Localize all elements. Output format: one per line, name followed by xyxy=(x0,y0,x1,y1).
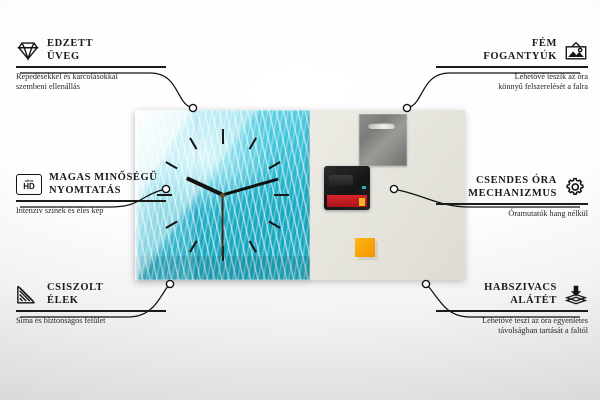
feature-title: CSISZOLT ÉLEK xyxy=(47,282,103,307)
feature-title: CSENDES ÓRA MECHANIZMUS xyxy=(468,175,557,200)
mechanism-marker xyxy=(362,186,366,189)
mechanism-housing xyxy=(329,175,353,186)
feature-sanded-edges: CSISZOLT ÉLEK Sima és biztonságos felüle… xyxy=(16,282,166,326)
infographic-canvas: EDZETT ÜVEG Repedésekkel és karcolásokka… xyxy=(0,0,600,400)
feature-foam-underlay: HABSZIVACS ALÁTÉT Lehetővé teszi az óra … xyxy=(436,282,588,336)
clock-tick xyxy=(223,194,289,196)
feature-metal-handles: FÉM FOGANTYÚK Lehetővé teszik az óra kön… xyxy=(436,38,588,92)
hanger-slot xyxy=(368,123,395,129)
feature-header: CSISZOLT ÉLEK xyxy=(16,282,166,307)
gear-icon xyxy=(564,177,588,198)
feature-description: Lehetővé teszik az óra könnyű felszerelé… xyxy=(436,72,588,92)
feature-header: EDZETT ÜVEG xyxy=(16,38,166,63)
feature-title: FÉM FOGANTYÚK xyxy=(483,38,557,63)
mechanism-label xyxy=(327,195,367,207)
foam-pad xyxy=(355,238,375,257)
feature-divider xyxy=(16,310,166,312)
sanded-edge-icon xyxy=(16,284,40,305)
diamond-icon xyxy=(16,40,40,61)
press-pad-icon xyxy=(564,284,588,305)
feature-divider xyxy=(436,310,588,312)
clock-tick xyxy=(222,129,224,195)
feature-silent-mechanism: CSENDES ÓRA MECHANIZMUS Óramutatók hang … xyxy=(436,175,588,219)
feature-header: HABSZIVACS ALÁTÉT xyxy=(436,282,588,307)
clock-tick xyxy=(157,194,223,196)
feature-title: HABSZIVACS ALÁTÉT xyxy=(484,282,557,307)
feature-header: ultraHD MAGAS MINŐSÉGŰ NYOMTATÁS xyxy=(16,172,166,197)
clock-mechanism xyxy=(324,166,370,210)
feature-description: Repedésekkel és karcolásokkal szembeni e… xyxy=(16,72,166,92)
feature-divider xyxy=(436,66,588,68)
feature-header: FÉM FOGANTYÚK xyxy=(436,38,588,63)
product-photo xyxy=(135,110,465,285)
feature-divider xyxy=(16,200,166,202)
feature-title: EDZETT ÜVEG xyxy=(47,38,93,63)
metal-hanger-plate xyxy=(359,114,407,166)
feature-divider xyxy=(436,203,588,205)
mechanism-hanging-loop xyxy=(337,166,360,173)
feature-description: Óramutatók hang nélkül xyxy=(436,209,588,219)
feature-divider xyxy=(16,66,166,68)
clock-center-cap xyxy=(220,193,225,198)
feature-title: MAGAS MINŐSÉGŰ NYOMTATÁS xyxy=(49,172,157,197)
feature-high-quality-print: ultraHD MAGAS MINŐSÉGŰ NYOMTATÁS Intenzí… xyxy=(16,172,166,216)
feature-description: Lehetővé teszi az óra egyenletes távolsá… xyxy=(436,316,588,336)
clock-second-hand xyxy=(222,195,224,257)
feature-description: Sima és biztonságos felület xyxy=(16,316,166,326)
feature-tempered-glass: EDZETT ÜVEG Repedésekkel és karcolásokka… xyxy=(16,38,166,92)
feature-header: CSENDES ÓRA MECHANIZMUS xyxy=(436,175,588,200)
ultra-hd-badge-icon: ultraHD xyxy=(16,174,42,195)
feature-description: Intenzív színek és éles kép xyxy=(16,206,166,216)
picture-hanger-icon xyxy=(564,40,588,61)
